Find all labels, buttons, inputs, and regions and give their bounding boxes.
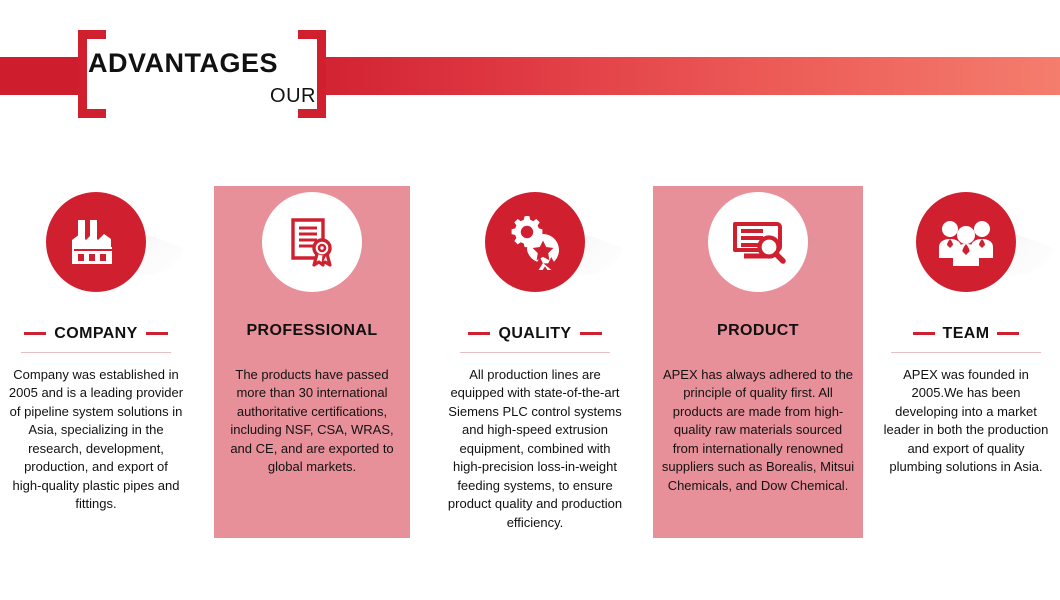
card-title: TEAM [872,322,1060,343]
card-title: PRODUCT [653,322,863,340]
icon-circle [262,192,362,292]
card-title-text: QUALITY [498,325,571,343]
monitor-search-icon [729,216,787,268]
icon-wrap [262,192,362,292]
icon-circle [485,192,585,292]
page-header: ADVANTAGES OUR [0,0,1060,140]
dash-left-icon [913,332,935,335]
card-title: PROFESSIONAL [214,322,410,340]
team-people-icon [937,218,995,266]
card-body-text: Company was established in 2005 and is a… [0,366,192,514]
icon-wrap [46,192,146,292]
card-title: COMPANY [0,322,192,343]
dash-right-icon [580,332,602,335]
card-body-text: The products have passed more than 30 in… [214,366,410,477]
icon-wrap [485,192,585,292]
icon-wrap [916,192,1016,292]
card-body-text: All production lines are equipped with s… [437,366,633,532]
dash-left-icon [468,332,490,335]
card-body-text: APEX has always adhered to the principle… [653,366,863,495]
title-divider [21,352,171,353]
title-divider [891,352,1041,353]
card-title-text: TEAM [943,325,990,343]
icon-circle [46,192,146,292]
page-subtitle: OUR [88,86,316,106]
card-title: QUALITY [437,322,633,343]
icon-wrap [708,192,808,292]
card-title-text: COMPANY [54,325,137,343]
dash-right-icon [997,332,1019,335]
card-title-text: PROFESSIONAL [246,322,377,340]
certificate-icon [285,215,339,269]
advantage-card-list: COMPANY Company was established in 2005 … [0,170,1060,570]
card-body-text: APEX was founded in 2005.We has been dev… [872,366,1060,477]
icon-circle [708,192,808,292]
card-title-text: PRODUCT [717,322,799,340]
factory-icon [68,216,124,268]
dash-right-icon [146,332,168,335]
dash-left-icon [24,332,46,335]
page-title: ADVANTAGES [88,50,318,77]
title-divider [460,352,610,353]
gears-star-icon [506,214,564,270]
icon-circle [916,192,1016,292]
